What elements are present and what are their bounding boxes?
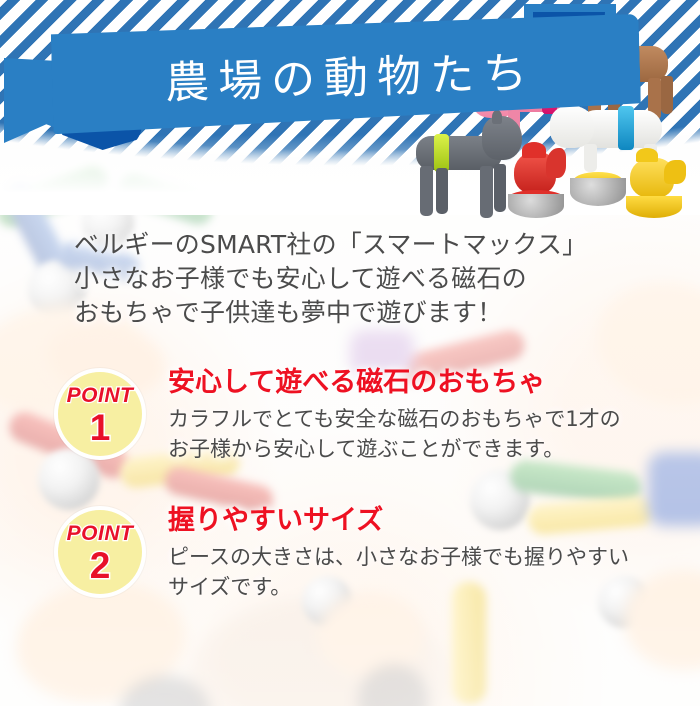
intro-line-3: おもちゃで子供達も夢中で遊びます！ (74, 296, 634, 330)
point-text-block-1: 安心して遊べる磁石のおもちゃ カラフルでとても安全な磁石のおもちゃで1才の お子… (168, 366, 668, 464)
intro-line-2: 小さなお子様でも安心して遊べる磁石の (74, 262, 634, 296)
point-body-2-line-1: ピースの大きさは、小さなお子様でも握りやすい (168, 542, 668, 572)
point-body-2-line-2: サイズです。 (168, 572, 668, 602)
rooster-base-bowl (508, 194, 564, 218)
feed-bowl-base (570, 178, 626, 206)
point-body-1-line-1: カラフルでとても安全な磁石のおもちゃで1才の (168, 404, 668, 434)
point-heading-2: 握りやすいサイズ (168, 504, 668, 538)
point-text-block-2: 握りやすいサイズ ピースの大きさは、小さなお子様でも握りやすい サイズです。 (168, 504, 668, 602)
point-body-1-line-2: お子様から安心して遊ぶことができます。 (168, 434, 668, 464)
intro-text: ベルギーのSMART社の「スマートマックス」 小さなお子様でも安心して遊べる磁石… (74, 228, 634, 330)
point-badge-1: POINT 1 (54, 368, 146, 460)
point-heading-1: 安心して遊べる磁石のおもちゃ (168, 366, 668, 400)
intro-line-1: ベルギーのSMART社の「スマートマックス」 (74, 228, 634, 262)
chicken-base (626, 196, 682, 218)
point-badge-label-2: POINT (67, 523, 134, 544)
point-badge-number-2: 2 (90, 547, 111, 584)
point-badge-2: POINT 2 (54, 506, 146, 598)
title-ribbon: 農場の動物たち (0, 0, 700, 175)
page-title: 農場の動物たち (51, 14, 642, 134)
point-badge-number-1: 1 (90, 409, 111, 446)
point-body-2: ピースの大きさは、小さなお子様でも握りやすい サイズです。 (168, 542, 668, 602)
advertisement-banner: 農場の動物たち ベルギーのSMART社の「スマートマックス」 小さなお子様でも安… (0, 0, 700, 706)
point-badge-label-1: POINT (67, 385, 134, 406)
point-body-1: カラフルでとても安全な磁石のおもちゃで1才の お子様から安心して遊ぶことができま… (168, 404, 668, 464)
